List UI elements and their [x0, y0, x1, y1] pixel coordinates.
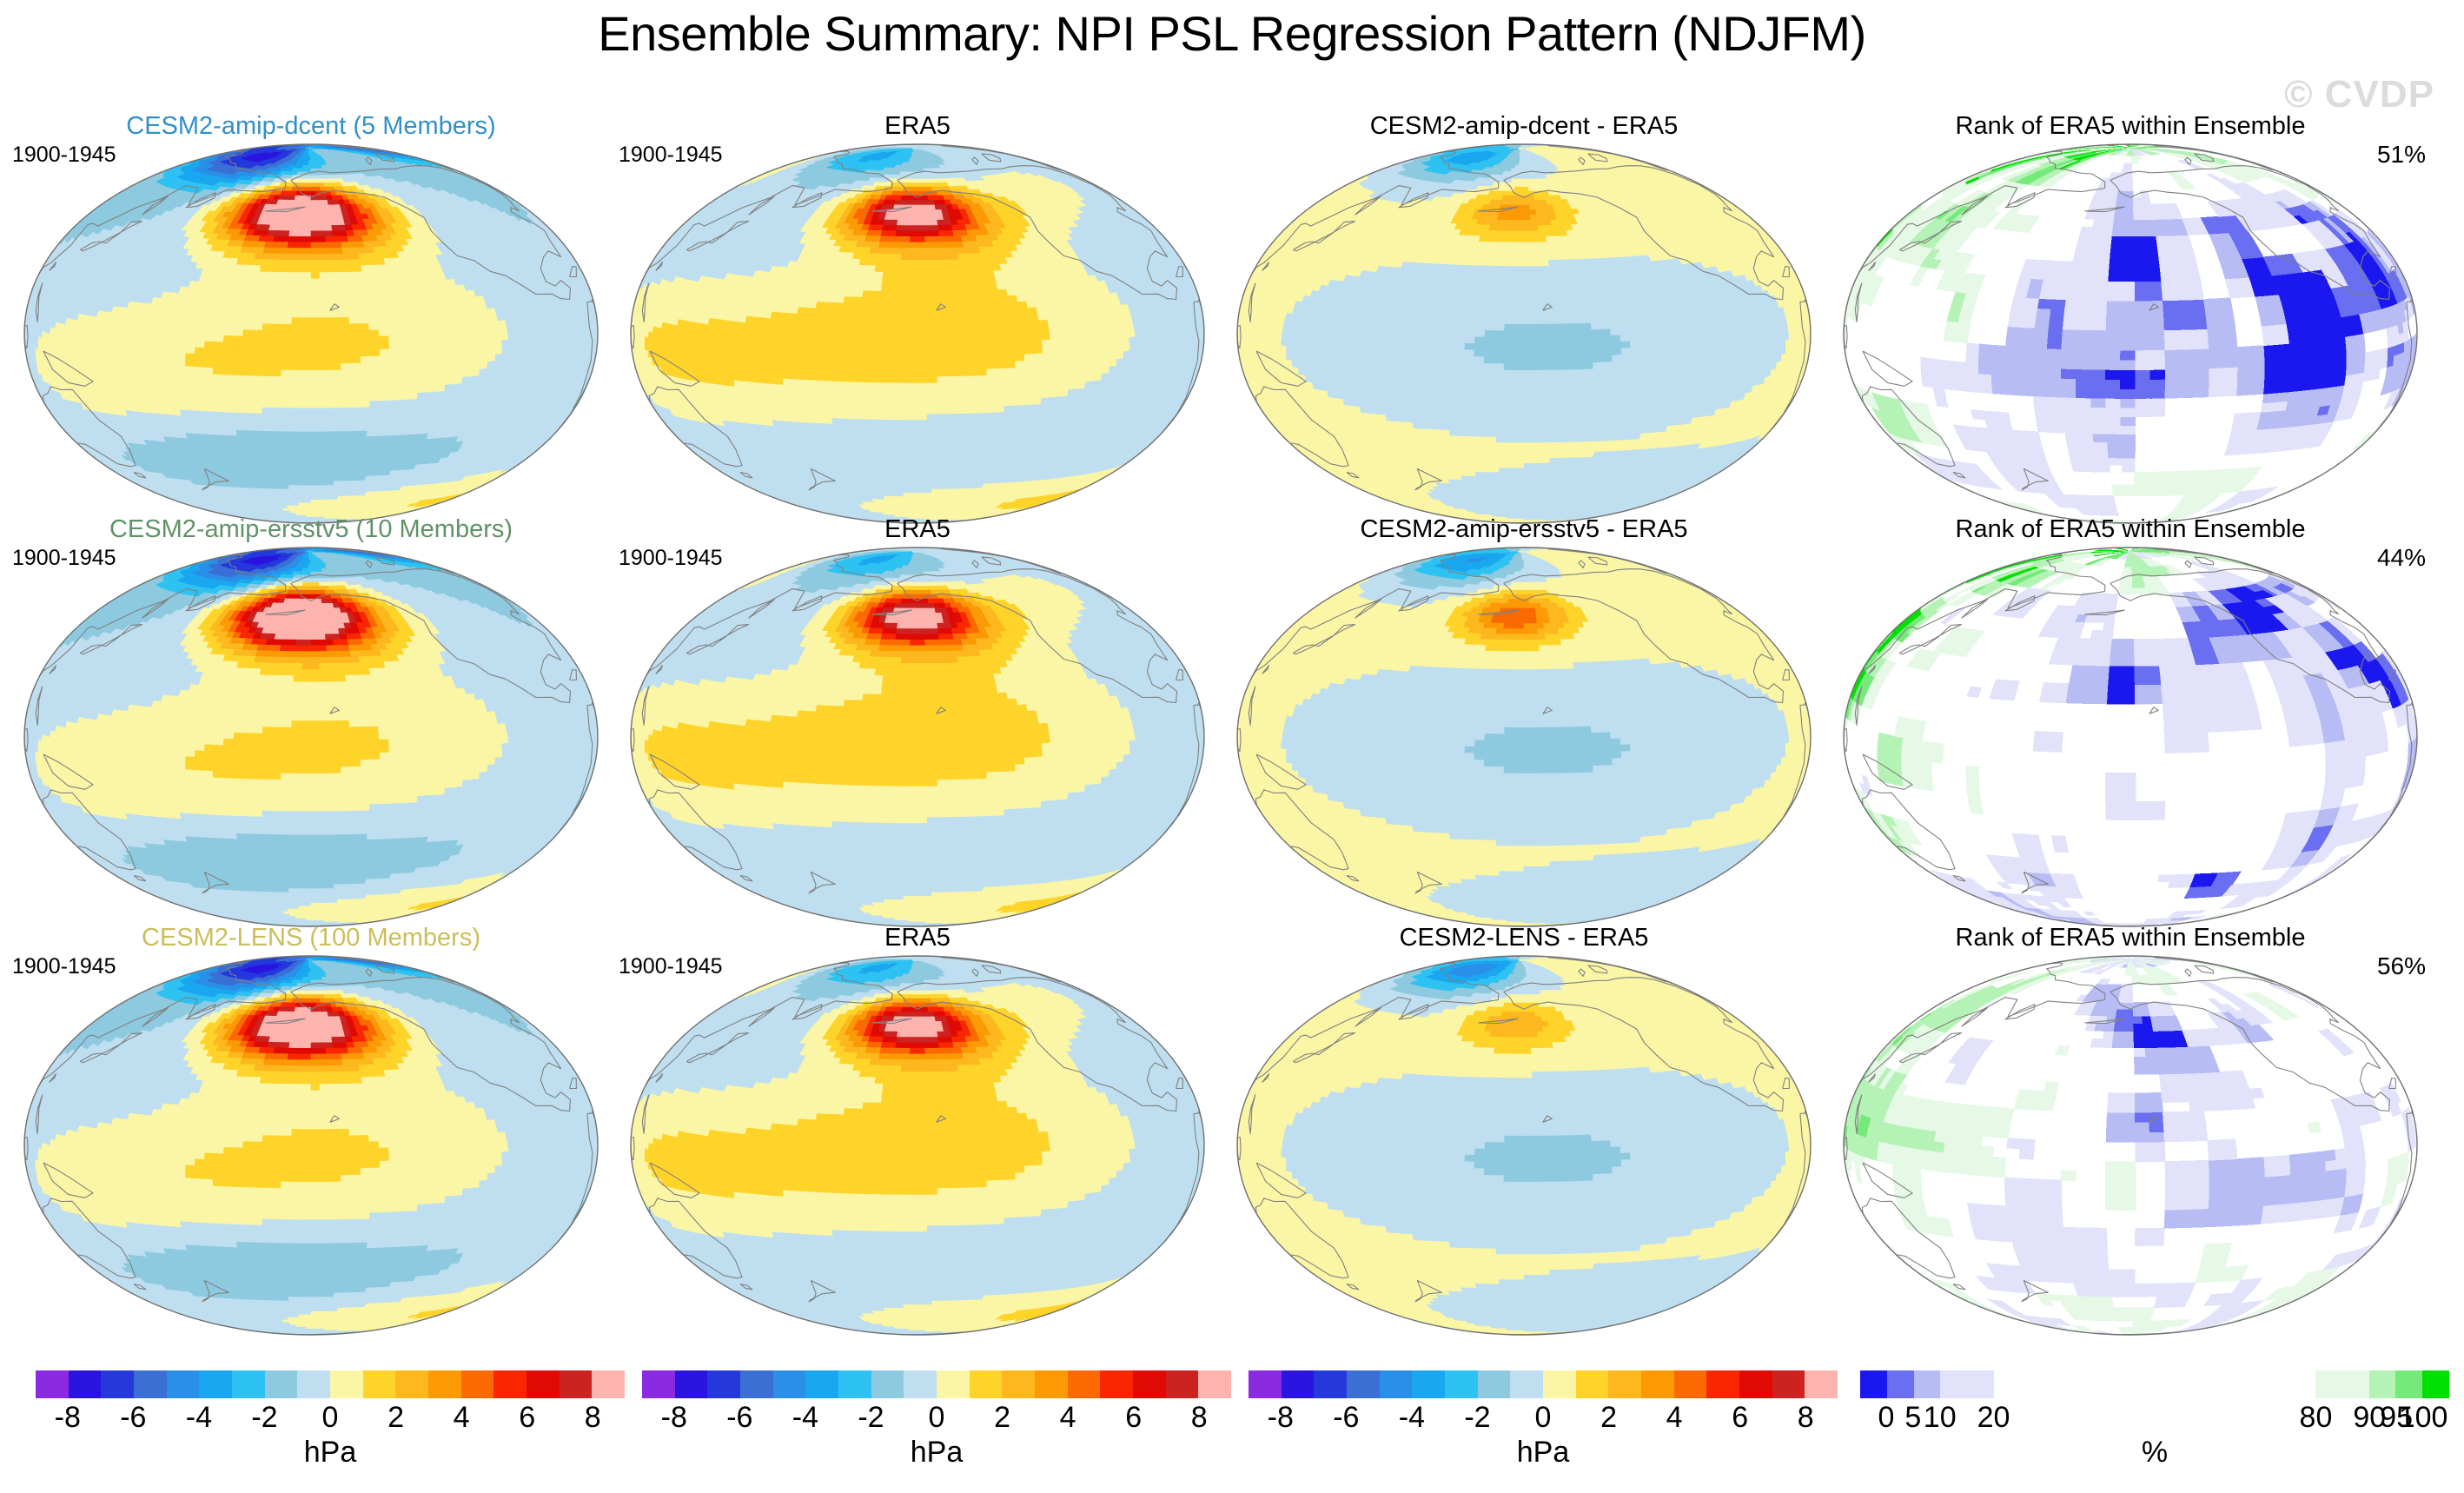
rank-tick-80: 80 — [2300, 1401, 2333, 1435]
panel-title-row-lens-obs: ERA5 — [613, 923, 1222, 952]
colorbar-tick--8: -8 — [55, 1401, 81, 1435]
map-row-ersstv5-difference — [1220, 544, 1828, 930]
colorbar-swatches — [641, 1370, 1232, 1399]
colorbar-tick-0: 0 — [1535, 1401, 1552, 1435]
colorbar-swatch-11 — [395, 1370, 428, 1398]
colorbar-swatch-4 — [167, 1370, 200, 1398]
colorbar-unit-hpa: hPa — [35, 1436, 626, 1470]
colorbar-tick-6: 6 — [1732, 1401, 1748, 1435]
colorbar-swatch-4 — [1380, 1370, 1413, 1398]
colorbar-tick-6: 6 — [1125, 1401, 1142, 1435]
panel-title-row-dcent-rank: Rank of ERA5 within Ensemble — [1826, 111, 2434, 141]
rank-colorbar: 051020809095100% — [1859, 1370, 2450, 1474]
colorbar-ticks: -8-6-4-202468 — [35, 1401, 626, 1436]
map-row-ersstv5-rank — [1826, 544, 2434, 930]
colorbar-tick-2: 2 — [994, 1401, 1010, 1435]
colorbar-swatch-7 — [265, 1370, 298, 1398]
rank-swatch-2 — [1914, 1370, 1941, 1398]
colorbar-swatch-16 — [1772, 1370, 1805, 1398]
colorbar-swatch-0 — [1249, 1370, 1282, 1398]
colorbar-swatch-1 — [69, 1370, 102, 1398]
colorbar-swatch-13 — [461, 1370, 494, 1398]
map-row-ersstv5-model — [7, 544, 615, 930]
rank-swatch-4 — [1994, 1370, 2315, 1398]
colorbar-swatch-17 — [1198, 1370, 1231, 1398]
colorbar-swatch-16 — [560, 1370, 593, 1398]
anomaly-colorbar-3: -8-6-4-202468hPa — [1248, 1370, 1838, 1474]
panel-row-lens-obs: ERA51900-1945 — [613, 923, 1222, 1340]
colorbar-swatch-0 — [642, 1370, 675, 1398]
colorbar-tick-0: 0 — [929, 1401, 945, 1435]
colorbar-swatch-8 — [1510, 1370, 1543, 1398]
map-row-lens-rank — [1826, 952, 2434, 1338]
colorbar-swatch-15 — [527, 1370, 560, 1398]
colorbar-swatch-12 — [428, 1370, 461, 1398]
colorbar-swatch-3 — [740, 1370, 773, 1398]
panel-row-dcent-rank: Rank of ERA5 within Ensemble51% — [1826, 111, 2434, 528]
colorbar-swatch-17 — [1805, 1370, 1838, 1398]
panel-title-row-ersstv5-model: CESM2-amip-ersstv5 (10 Members) — [7, 514, 615, 544]
colorbar-swatch-7 — [871, 1370, 904, 1398]
colorbar-swatch-11 — [1608, 1370, 1641, 1398]
colorbar-swatch-3 — [1347, 1370, 1380, 1398]
colorbar-tick--2: -2 — [1464, 1401, 1490, 1435]
colorbar-swatches — [1248, 1370, 1838, 1399]
colorbar-tick--2: -2 — [858, 1401, 884, 1435]
colorbar-unit-hpa: hPa — [1248, 1436, 1838, 1470]
colorbar-tick-2: 2 — [1600, 1401, 1617, 1435]
colorbar-swatch-1 — [1282, 1370, 1315, 1398]
panel-title-row-lens-model: CESM2-LENS (100 Members) — [7, 923, 615, 952]
rank-swatch-0 — [1860, 1370, 1887, 1398]
colorbar-swatch-0 — [36, 1370, 69, 1398]
rank-tick-100: 100 — [2399, 1401, 2448, 1435]
colorbar-swatch-13 — [1068, 1370, 1101, 1398]
rank-swatch-1 — [1887, 1370, 1914, 1398]
map-row-ersstv5-obs — [613, 544, 1222, 930]
colorbar-tick--4: -4 — [792, 1401, 818, 1435]
colorbar-swatch-10 — [1576, 1370, 1609, 1398]
cvdp-watermark: © CVDP — [2284, 73, 2434, 116]
colorbar-swatch-3 — [134, 1370, 167, 1398]
rank-swatch-5 — [2315, 1370, 2369, 1398]
panel-title-row-ersstv5-difference: CESM2-amip-ersstv5 - ERA5 — [1220, 514, 1828, 544]
map-row-dcent-model — [7, 141, 615, 527]
anomaly-colorbar-1: -8-6-4-202468hPa — [35, 1370, 626, 1474]
panel-title-row-lens-difference: CESM2-LENS - ERA5 — [1220, 923, 1828, 952]
colorbar-swatch-16 — [1166, 1370, 1199, 1398]
colorbar-swatch-2 — [707, 1370, 740, 1398]
colorbar-swatch-5 — [805, 1370, 838, 1398]
panel-title-row-dcent-difference: CESM2-amip-dcent - ERA5 — [1220, 111, 1828, 141]
colorbar-swatch-2 — [101, 1370, 134, 1398]
rank-swatch-6 — [2369, 1370, 2396, 1398]
colorbar-unit-hpa: hPa — [641, 1436, 1232, 1470]
rank-swatch-3 — [1940, 1370, 1994, 1398]
colorbar-swatch-8 — [904, 1370, 937, 1398]
colorbar-swatch-17 — [592, 1370, 625, 1398]
page-title: Ensemble Summary: NPI PSL Regression Pat… — [0, 5, 2464, 62]
panel-row-ersstv5-model: CESM2-amip-ersstv5 (10 Members)1900-1945 — [7, 514, 615, 932]
rank-colorbar-unit-percent: % — [1859, 1436, 2450, 1470]
rank-colorbar-ticks: 051020809095100 — [1859, 1401, 2450, 1436]
colorbar-tick--8: -8 — [661, 1401, 687, 1435]
rank-tick-5: 5 — [1904, 1401, 1921, 1435]
colorbar-swatch-4 — [773, 1370, 806, 1398]
colorbar-swatch-8 — [297, 1370, 330, 1398]
colorbar-tick-4: 4 — [1666, 1401, 1683, 1435]
colorbar-tick-2: 2 — [387, 1401, 404, 1435]
colorbar-swatch-15 — [1133, 1370, 1166, 1398]
colorbar-swatch-11 — [1002, 1370, 1035, 1398]
map-row-dcent-rank — [1826, 141, 2434, 527]
colorbar-swatch-9 — [330, 1370, 363, 1398]
rank-tick-0: 0 — [1878, 1401, 1894, 1435]
map-row-dcent-obs — [613, 141, 1222, 527]
colorbar-swatch-14 — [1706, 1370, 1739, 1398]
rank-colorbar-swatches — [1859, 1370, 2450, 1399]
rank-swatch-8 — [2422, 1370, 2449, 1398]
map-row-lens-obs — [613, 952, 1222, 1338]
colorbar-tick--6: -6 — [726, 1401, 752, 1435]
colorbar-swatch-2 — [1314, 1370, 1347, 1398]
map-row-dcent-difference — [1220, 141, 1828, 527]
colorbar-tick--2: -2 — [251, 1401, 277, 1435]
panel-row-ersstv5-obs: ERA51900-1945 — [613, 514, 1222, 932]
panel-title-row-ersstv5-obs: ERA5 — [613, 514, 1222, 544]
colorbar-swatch-13 — [1674, 1370, 1707, 1398]
panel-title-row-lens-rank: Rank of ERA5 within Ensemble — [1826, 923, 2434, 952]
panel-row-ersstv5-rank: Rank of ERA5 within Ensemble44% — [1826, 514, 2434, 932]
panel-row-dcent-model: CESM2-amip-dcent (5 Members)1900-1945 — [7, 111, 615, 528]
panel-title-row-dcent-obs: ERA5 — [613, 111, 1222, 141]
colorbar-ticks: -8-6-4-202468 — [1248, 1401, 1838, 1436]
colorbar-tick--6: -6 — [120, 1401, 146, 1435]
rank-tick-20: 20 — [1977, 1401, 2010, 1435]
rank-tick-10: 10 — [1924, 1401, 1957, 1435]
colorbar-swatch-9 — [937, 1370, 970, 1398]
colorbar-tick--4: -4 — [1399, 1401, 1425, 1435]
panel-row-ersstv5-difference: CESM2-amip-ersstv5 - ERA5 — [1220, 514, 1828, 932]
panel-title-row-dcent-model: CESM2-amip-dcent (5 Members) — [7, 111, 615, 141]
map-row-lens-model — [7, 952, 615, 1338]
colorbar-swatch-6 — [232, 1370, 265, 1398]
colorbar-tick-8: 8 — [1798, 1401, 1814, 1435]
rank-swatch-7 — [2395, 1370, 2422, 1398]
panel-row-dcent-difference: CESM2-amip-dcent - ERA5 — [1220, 111, 1828, 528]
colorbar-swatch-15 — [1739, 1370, 1772, 1398]
colorbar-tick--8: -8 — [1268, 1401, 1294, 1435]
map-row-lens-difference — [1220, 952, 1828, 1338]
colorbar-swatch-12 — [1035, 1370, 1068, 1398]
colorbar-tick-8: 8 — [1191, 1401, 1208, 1435]
panel-title-row-ersstv5-rank: Rank of ERA5 within Ensemble — [1826, 514, 2434, 544]
colorbar-tick-0: 0 — [322, 1401, 339, 1435]
colorbar-ticks: -8-6-4-202468 — [641, 1401, 1232, 1436]
anomaly-colorbar-2: -8-6-4-202468hPa — [641, 1370, 1232, 1474]
colorbar-swatch-10 — [970, 1370, 1003, 1398]
colorbar-swatch-14 — [1100, 1370, 1133, 1398]
colorbar-swatch-14 — [493, 1370, 527, 1398]
colorbar-tick-4: 4 — [454, 1401, 470, 1435]
panel-row-lens-rank: Rank of ERA5 within Ensemble56% — [1826, 923, 2434, 1340]
colorbar-tick-4: 4 — [1060, 1401, 1076, 1435]
colorbar-tick-6: 6 — [519, 1401, 535, 1435]
colorbar-swatch-6 — [838, 1370, 871, 1398]
colorbar-swatch-5 — [199, 1370, 232, 1398]
colorbar-swatch-1 — [675, 1370, 708, 1398]
panel-row-dcent-obs: ERA51900-1945 — [613, 111, 1222, 528]
colorbar-swatch-9 — [1543, 1370, 1576, 1398]
panel-row-lens-difference: CESM2-LENS - ERA5 — [1220, 923, 1828, 1340]
colorbar-swatch-7 — [1478, 1370, 1511, 1398]
colorbar-swatches — [35, 1370, 626, 1399]
colorbar-swatch-12 — [1641, 1370, 1674, 1398]
figure-root: Ensemble Summary: NPI PSL Regression Pat… — [0, 0, 2464, 1493]
colorbar-swatch-6 — [1445, 1370, 1478, 1398]
colorbar-tick--6: -6 — [1333, 1401, 1359, 1435]
colorbar-swatch-5 — [1412, 1370, 1445, 1398]
colorbar-swatch-10 — [363, 1370, 396, 1398]
colorbar-tick-8: 8 — [585, 1401, 601, 1435]
colorbar-tick--4: -4 — [186, 1401, 212, 1435]
panel-row-lens-model: CESM2-LENS (100 Members)1900-1945 — [7, 923, 615, 1340]
